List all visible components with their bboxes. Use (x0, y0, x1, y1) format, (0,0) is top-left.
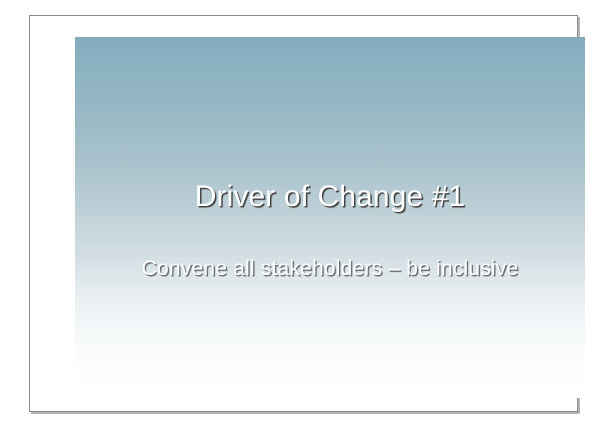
slide-canvas: Driver of Change #1 Convene all stakehol… (75, 37, 585, 398)
slide-content-area: Driver of Change #1 Convene all stakehol… (75, 37, 585, 398)
slide-page-frame: Driver of Change #1 Convene all stakehol… (29, 15, 578, 412)
slide-title: Driver of Change #1 (75, 180, 585, 214)
slide-subtitle: Convene all stakeholders – be inclusive (75, 256, 585, 282)
